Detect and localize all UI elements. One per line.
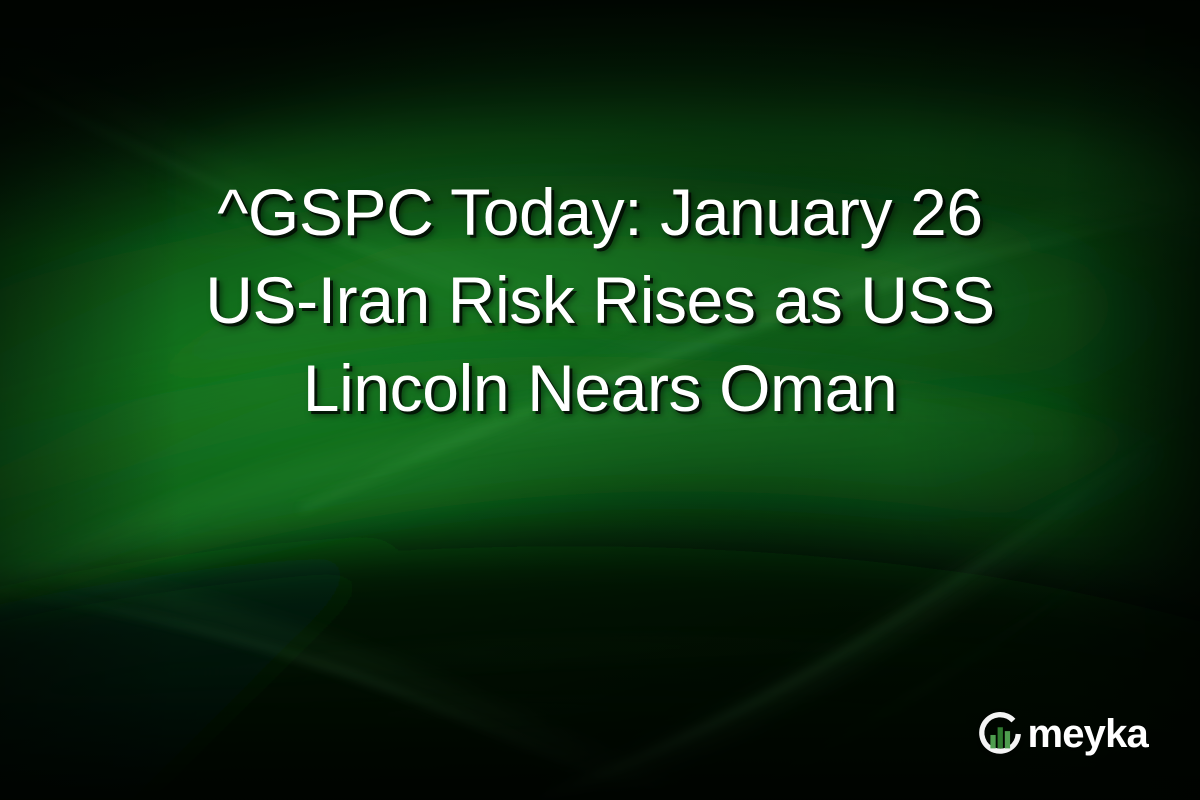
headline-line-1: ^GSPC Today: January 26 <box>70 168 1130 256</box>
headline-line-3: Lincoln Nears Oman <box>70 344 1130 432</box>
headline-line-2: US-Iran Risk Rises as USS <box>70 256 1130 344</box>
meyka-wordmark: meyka <box>1027 714 1148 754</box>
headline-block: ^GSPC Today: January 26 US-Iran Risk Ris… <box>0 168 1200 432</box>
meyka-logo[interactable]: meyka <box>976 710 1148 758</box>
meyka-bar-chart-ring-icon <box>976 710 1024 758</box>
article-share-card: ^GSPC Today: January 26 US-Iran Risk Ris… <box>0 0 1200 800</box>
